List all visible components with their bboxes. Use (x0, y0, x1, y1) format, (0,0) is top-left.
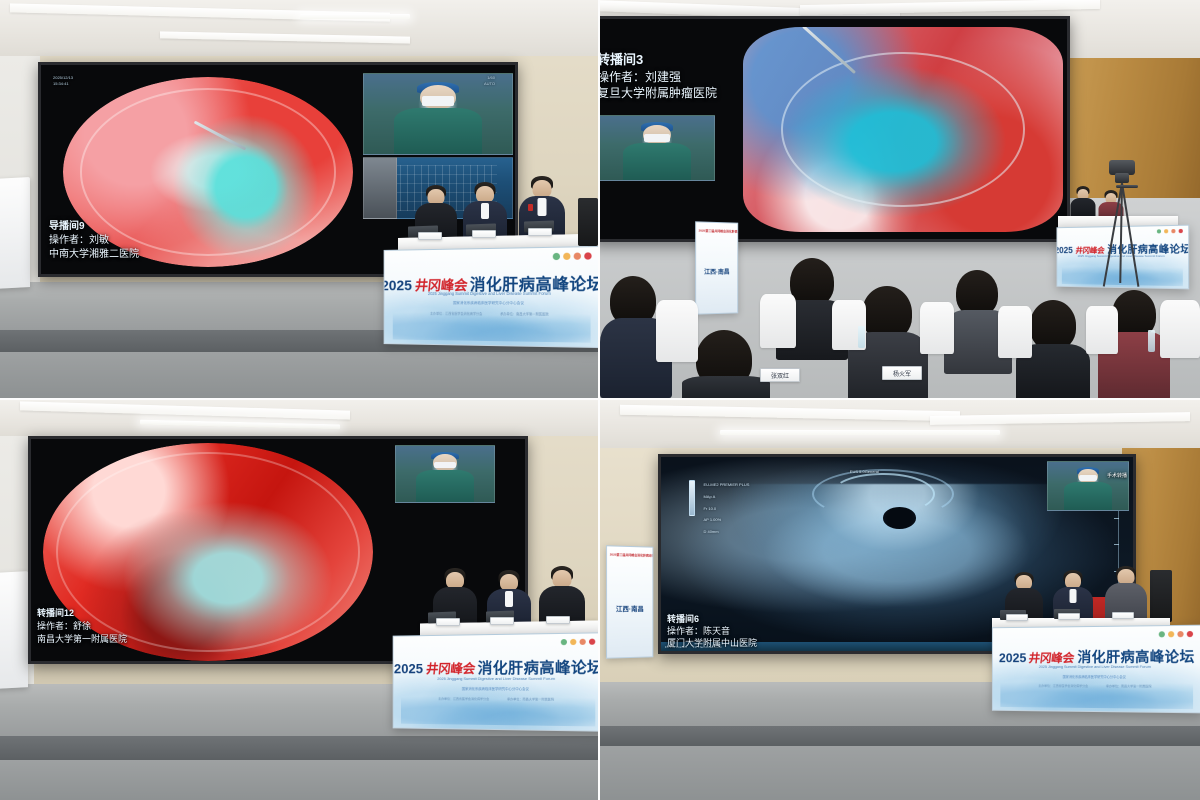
tripod-head (1115, 173, 1129, 183)
banner-logo-dots (1159, 631, 1193, 637)
monitor-time: 15:34:41 (53, 81, 69, 87)
pip-surgery-broadcast (1047, 461, 1129, 511)
stage-banner: 2025 井冈峰会 消化肝病高峰论坛 2025 Jinggang Summit … (384, 246, 598, 348)
monitor-shutter: 1/60 (487, 75, 495, 81)
audience-head (1030, 300, 1076, 350)
pip-side-strip (363, 157, 397, 219)
camera-tripod (1100, 160, 1144, 290)
nameplate (528, 228, 552, 236)
broadcast-hospital-label: 南昌大学第一附属医院 (37, 633, 127, 645)
banner-title-en: 2025 Jinggang Summit Digestive and Liver… (993, 665, 1200, 669)
stage-riser (600, 726, 1200, 746)
panel-top-right: 转播间3 操作者：刘建强 复旦大学附属肿瘤医院 2025 (600, 0, 1200, 398)
banner-title-en: 2025 Jinggang Summit Digestive and Liver… (394, 676, 598, 681)
speaker (578, 198, 598, 246)
rollup-standee: 2025第三届井冈峰会消化肝病论坛 江西·南昌 (695, 221, 738, 314)
water-bottle (858, 326, 865, 348)
ceiling-lamp (720, 430, 1000, 435)
nameplate (490, 617, 514, 625)
lectern (0, 571, 28, 689)
nameplate (546, 616, 570, 624)
ultrasound-preset-1: EU-ME2 PREMIER PLUS (703, 482, 749, 488)
speaker (1150, 570, 1172, 622)
banner-watercolor (1001, 677, 1193, 709)
ultrasound-preset-2: MAp A (703, 494, 715, 500)
ultrasound-preset-4: AP 1.00% (703, 517, 721, 523)
chair (760, 294, 796, 348)
chair (998, 306, 1032, 358)
endoscopy-image (743, 27, 1063, 232)
tripod-pan-handle (1116, 185, 1138, 188)
water-bottle (1148, 330, 1155, 352)
audience-nameplate: 张双红 (760, 368, 800, 382)
nameplate (418, 232, 442, 240)
nameplate (1058, 613, 1080, 620)
broadcast-hospital-label: 厦门大学附属中山医院 (667, 637, 757, 649)
banner-logo-dots (553, 252, 592, 260)
ceiling-lamp (300, 14, 410, 19)
endoscopy-image (43, 443, 373, 661)
nameplate (472, 230, 496, 238)
banner-year: 2025 (394, 661, 423, 677)
stage-banner: 2025 井冈峰会 消化肝病高峰论坛 2025 Jinggang Summit … (393, 632, 598, 732)
panel-bottom-right: EU-ME2 PREMIER PLUS MAp A Fr 10.0 AP 1.0… (600, 400, 1200, 800)
banner-logo-text: 井冈峰会 (1028, 649, 1075, 666)
panel-top-left: 2025/12/13 15:34:41 1/60 AUTO 导播间9 操作者：刘… (0, 0, 598, 398)
standee-heading: 2025第三届井冈峰会消化肝病论坛 (699, 228, 735, 233)
banner-title-en: 2025 Jinggang Summit Digestive and Liver… (385, 291, 598, 296)
pip-operating-room (600, 115, 715, 181)
banner-title-cn: 消化肝病高峰论坛 (478, 656, 598, 678)
broadcast-operator-label: 操作者：刘建强 (600, 69, 681, 85)
broadcast-room-label: 转播间6 (667, 613, 699, 625)
banner-logo-dots (561, 639, 596, 646)
broadcast-operator-label: 操作者：刘敏 (49, 234, 109, 248)
stage-riser (0, 736, 598, 760)
panel-bottom-left: 转播间12 操作者：舒徐 南昌大学第一附属医院 (0, 400, 598, 800)
chair (1086, 306, 1118, 354)
standee-heading: 2025第三届井冈峰会消化肝病论坛 (610, 552, 650, 557)
audience-nameplate: 杨火军 (882, 366, 922, 380)
audience-body (682, 376, 770, 398)
ultrasound-probe-label: EUS 5.0General (850, 469, 879, 475)
audience-head (790, 258, 834, 306)
banner-logo-text: 井冈峰会 (425, 658, 476, 677)
rollup-standee: 2025第三届井冈峰会消化肝病论坛 江西·南昌 (606, 545, 653, 658)
monitor-mode: AUTO (484, 81, 495, 87)
ultrasound-preset-3: Fr 10.0 (703, 506, 716, 512)
ultrasound-preset-5: D 40mm (703, 529, 718, 535)
ultrasound-gain-bar (689, 480, 695, 516)
banner-watercolor (393, 306, 591, 343)
floor (0, 760, 598, 800)
broadcast-operator-label: 操作者：陈天音 (667, 625, 730, 637)
chair (920, 302, 954, 354)
floor (0, 352, 598, 398)
monitor-date: 2025/12/13 (53, 75, 73, 81)
stage-banner: 2025 井冈峰会 消化肝病高峰论坛 2025 Jinggang Summit … (992, 625, 1200, 714)
broadcast-room-label: 转播间12 (37, 607, 74, 619)
banner-logo-dots (1157, 229, 1183, 234)
banner-year: 2025 (999, 650, 1026, 665)
chair (656, 300, 698, 362)
pip-operating-room (395, 445, 495, 503)
broadcast-operator-label: 操作者：舒徐 (37, 620, 91, 632)
pip-surgery-label: 手术转播 (1107, 473, 1127, 480)
standee-city: 江西·南昌 (696, 267, 737, 276)
broadcast-hospital-label: 中南大学湘雅二医院 (49, 248, 139, 262)
led-screen: 转播间3 操作者：刘建强 复旦大学附属肿瘤医院 (600, 16, 1070, 242)
broadcast-hospital-label: 复旦大学附属肿瘤医院 (600, 85, 717, 101)
lectern (0, 177, 30, 289)
floor (600, 746, 1200, 800)
chair (1160, 300, 1200, 358)
nameplate (1006, 614, 1028, 621)
broadcast-room-label: 导播间9 (49, 220, 85, 234)
standee-city: 江西·南昌 (607, 603, 652, 613)
nameplate (436, 618, 460, 626)
fire-alarm-icon (528, 204, 533, 211)
presenter (1070, 186, 1096, 220)
photo-collage: 2025/12/13 15:34:41 1/60 AUTO 导播间9 操作者：刘… (0, 0, 1200, 800)
banner-watercolor (401, 691, 594, 727)
banner-title-row: 2025 井冈峰会 消化肝病高峰论坛 (394, 656, 598, 678)
nameplate (1112, 612, 1134, 619)
broadcast-room-label: 转播间3 (600, 51, 643, 69)
